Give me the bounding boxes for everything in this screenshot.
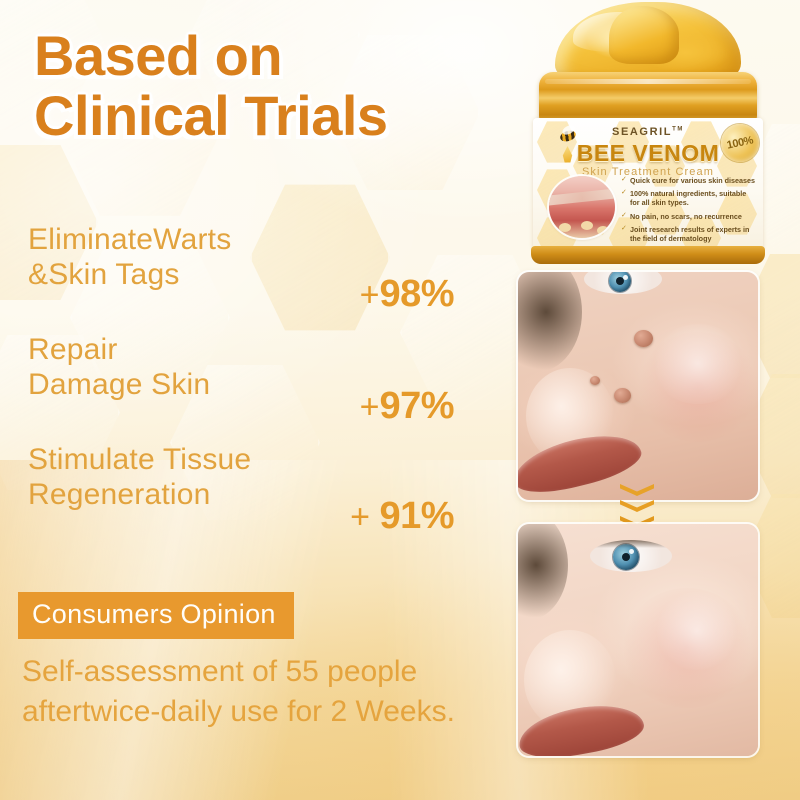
product-bullet-text: 100% natural ingredients, suitable for a… (630, 189, 746, 207)
benefit-label-line-1: Repair (28, 333, 118, 366)
product-bullet: ✓Quick cure for various skin diseases (621, 176, 757, 185)
jar-label: SEAGRILTM BEE VENOM Skin Treatment Cream… (533, 118, 763, 250)
skin-growth-mark (634, 330, 653, 347)
product-bullet: ✓100% natural ingredients, suitable for … (621, 189, 757, 207)
check-icon: ✓ (621, 225, 627, 234)
benefit-label-line-1: Stimulate Tissue (28, 443, 251, 476)
skin-growth-mark (590, 376, 600, 385)
benefit-value: +97% (360, 385, 454, 428)
headline-line-1: Based on (34, 24, 282, 87)
benefit-value-number: 97% (379, 385, 454, 427)
benefit-row: EliminateWarts &Skin Tags +98% (28, 222, 458, 332)
after-cheek-highlight (654, 592, 740, 670)
benefit-label: Stimulate Tissue Regeneration (28, 442, 318, 513)
trademark-symbol: TM (672, 126, 684, 132)
before-photo (518, 272, 758, 500)
benefit-row: Repair Damage Skin +97% (28, 332, 458, 442)
benefit-value-sign: + (360, 276, 380, 314)
cream-swirl-peak (609, 6, 679, 64)
jar-lid (539, 72, 757, 124)
benefit-value-number: 98% (379, 273, 454, 315)
check-icon: ✓ (621, 189, 627, 198)
check-icon: ✓ (621, 212, 627, 221)
after-eye (590, 540, 672, 572)
benefit-value-sign: + (350, 498, 379, 536)
jar-base (531, 246, 765, 264)
benefit-results-list: EliminateWarts &Skin Tags +98% Repair Da… (28, 222, 458, 552)
check-icon: ✓ (621, 176, 627, 185)
benefit-label-line-2: Damage Skin (28, 368, 210, 401)
benefit-row: Stimulate Tissue Regeneration + 91% (28, 442, 458, 552)
benefit-label-line-2: &Skin Tags (28, 258, 180, 291)
chevron-down-icon (620, 484, 654, 497)
seal-label: 100% (726, 134, 754, 151)
consumers-opinion-body: Self-assessment of 55 people aftertwice-… (22, 652, 462, 732)
benefit-label: Repair Damage Skin (28, 332, 318, 403)
brand-text: SEAGRIL (612, 126, 672, 138)
consumers-opinion-banner: Consumers Opinion (18, 592, 294, 639)
skin-cross-section-illustration (549, 176, 615, 238)
headline-line-2: Clinical Trials (34, 86, 504, 146)
product-jar: SEAGRILTM BEE VENOM Skin Treatment Cream… (517, 0, 779, 272)
product-bullet-text: No pain, no scars, no recurrence (630, 212, 742, 221)
product-promo-poster: Based on Clinical Trials EliminateWarts … (0, 0, 800, 800)
benefit-label: EliminateWarts &Skin Tags (28, 222, 318, 293)
chevron-down-icon (620, 500, 654, 513)
page-headline: Based on Clinical Trials (34, 26, 504, 147)
product-bullet-text: Joint research results of experts in the… (630, 225, 749, 243)
product-bullet: ✓Joint research results of experts in th… (621, 225, 757, 243)
benefit-value: + 91% (350, 495, 454, 538)
benefit-value-sign: + (360, 388, 380, 426)
product-benefit-bullets: ✓Quick cure for various skin diseases ✓1… (621, 176, 757, 247)
after-photo (518, 524, 758, 756)
benefit-label-line-2: Regeneration (28, 478, 211, 511)
product-bullet-text: Quick cure for various skin diseases (630, 176, 755, 185)
benefit-value-number: 91% (379, 495, 454, 537)
benefit-label-line-1: EliminateWarts (28, 223, 231, 256)
benefit-value: +98% (360, 273, 454, 316)
skin-growth-mark (614, 388, 631, 403)
before-cheek-highlight (650, 324, 746, 404)
product-bullet: ✓No pain, no scars, no recurrence (621, 212, 757, 221)
